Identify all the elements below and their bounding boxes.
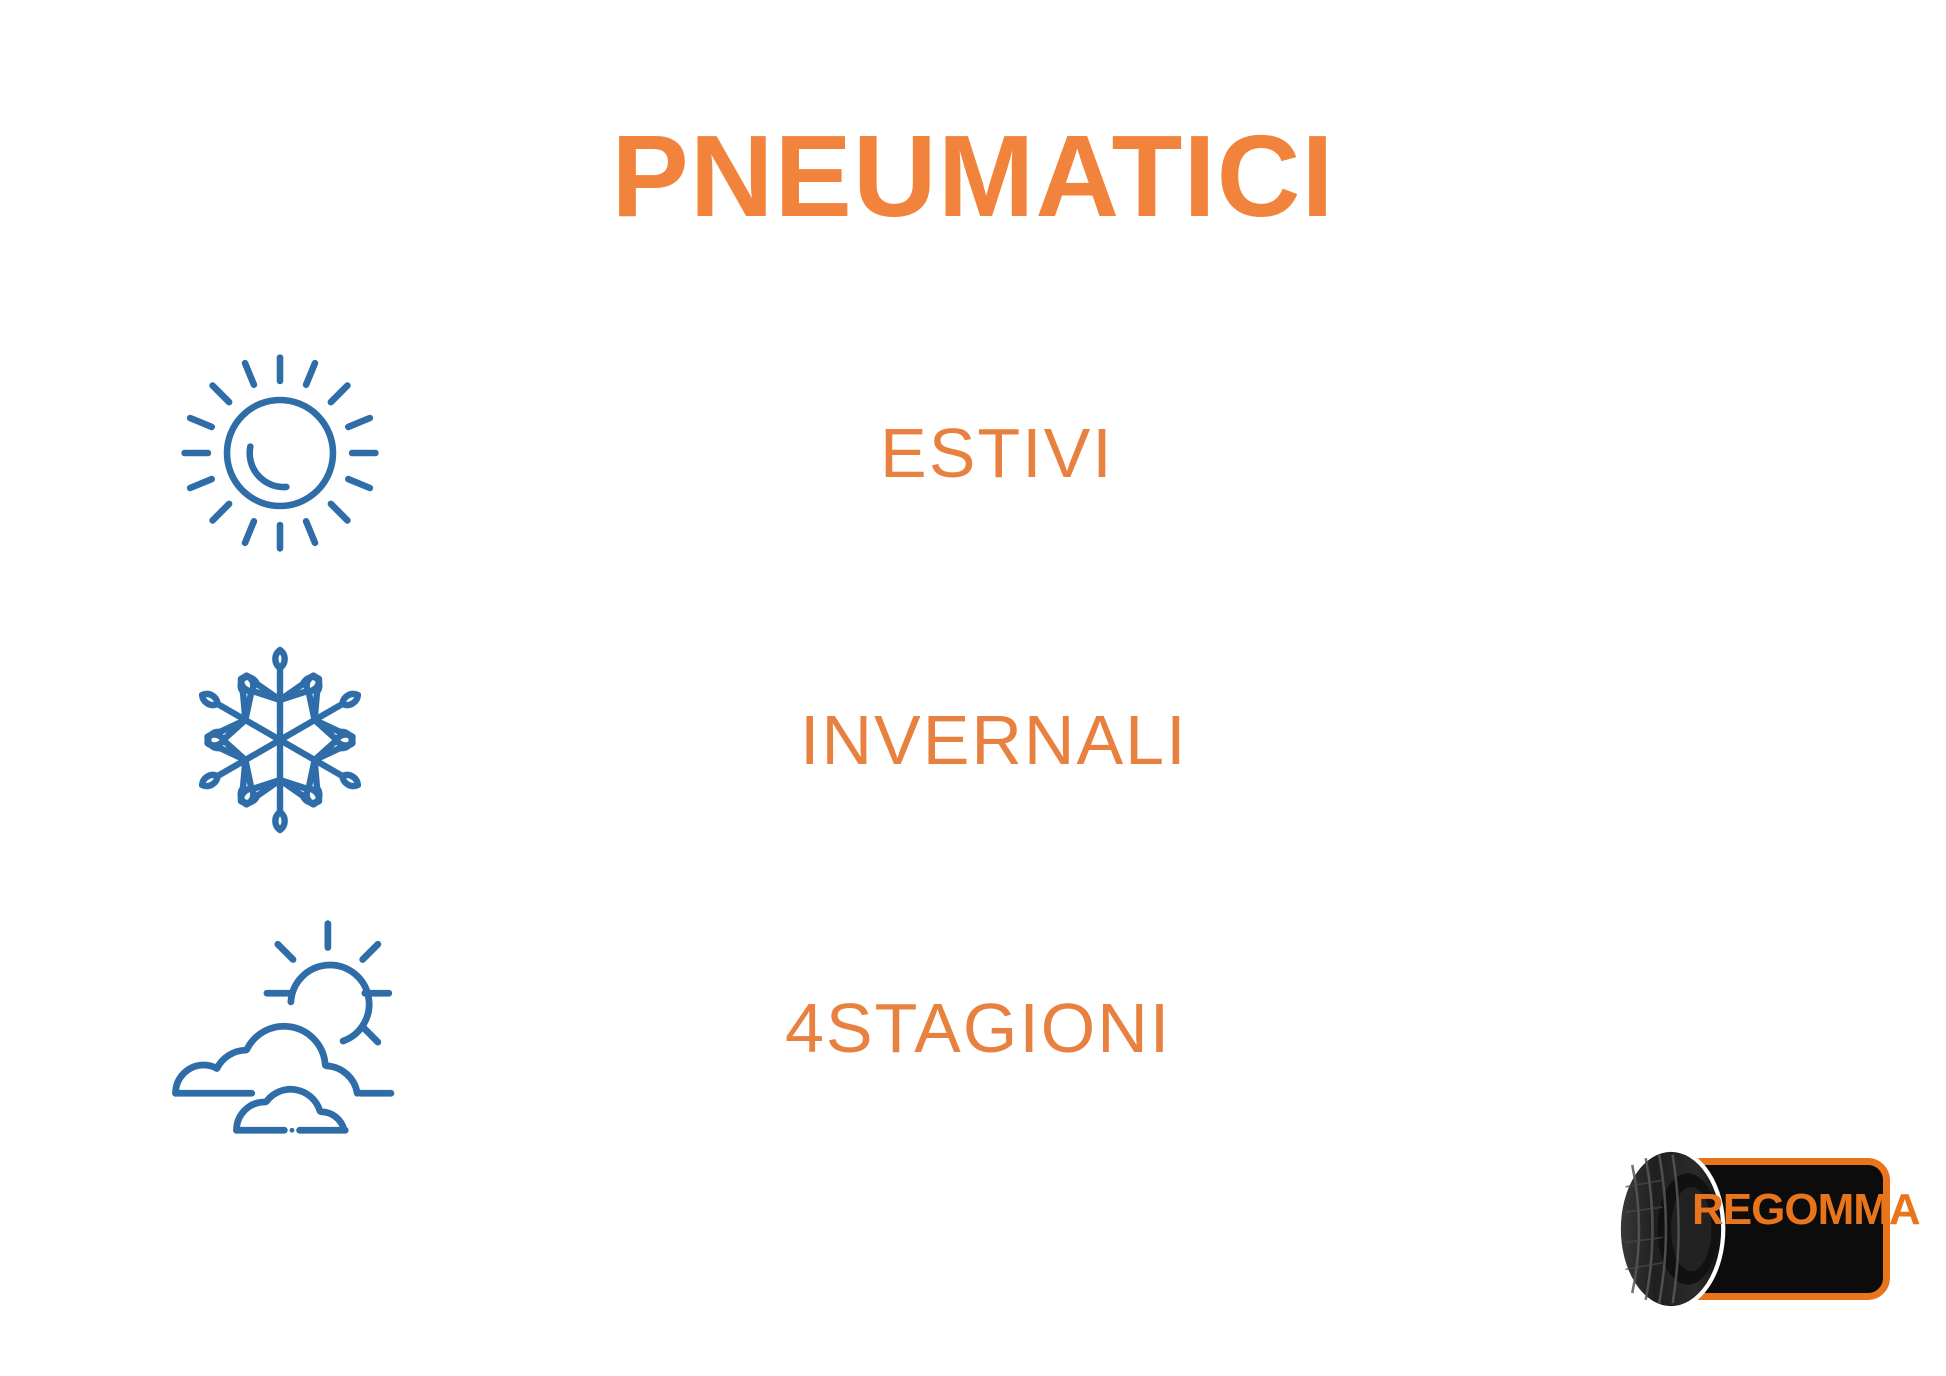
category-row-quattro-stagioni: 4STAGIONI [0,903,1946,1153]
sun-icon [174,347,386,559]
logo-brand-text: REGOMMA [1692,1188,1882,1232]
label-cell-invernali: INVERNALI [560,700,1946,780]
label-cell-quattro-stagioni: 4STAGIONI [560,988,1946,1068]
sun-icon-cell [0,328,560,578]
category-row-invernali: INVERNALI [0,615,1946,865]
category-label-estivi: ESTIVI [880,413,1114,493]
category-row-estivi: ESTIVI [0,328,1946,578]
page-title: PNEUMATICI [0,118,1946,234]
snowflake-icon [180,640,380,840]
brand-logo[interactable]: REGOMMA [1608,1140,1898,1325]
category-label-quattro-stagioni: 4STAGIONI [785,988,1171,1068]
sun-behind-clouds-icon-cell [0,903,560,1153]
label-cell-estivi: ESTIVI [560,413,1946,493]
category-label-invernali: INVERNALI [800,700,1188,780]
sun-behind-clouds-icon [156,919,404,1137]
snowflake-icon-cell [0,615,560,865]
